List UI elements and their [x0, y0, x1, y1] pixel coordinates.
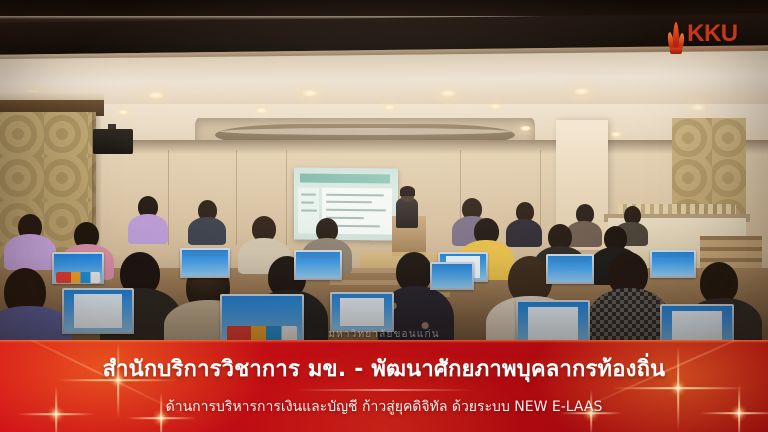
downlight-icon: [610, 132, 621, 137]
banner-title: สำนักบริการวิชาการ มข. - พัฒนาศักยภาพบุค…: [103, 356, 666, 384]
downlight-icon: [690, 104, 706, 111]
projection-screen: [294, 167, 398, 240]
wall-monitor: [93, 129, 133, 154]
ceiling-recess-lip: [220, 128, 510, 135]
laptop: [220, 294, 304, 346]
laptop-screen-bar: [299, 255, 337, 258]
attendee-body: [506, 219, 542, 247]
laptop-screen-bar: [551, 259, 589, 262]
laptop: [430, 262, 474, 290]
downlight-icon: [520, 126, 531, 131]
laptop: [180, 248, 230, 278]
downlight-icon: [490, 104, 501, 109]
laptop-screen-bar: [185, 253, 225, 256]
laptop: [546, 254, 594, 284]
laptop-sticker: [56, 272, 100, 283]
laptop-screen-bar: [655, 254, 692, 257]
banner-divider: [295, 389, 473, 391]
laptop-document: [74, 294, 123, 327]
attendee-body: [188, 217, 226, 245]
laptop: [650, 250, 696, 278]
downlight-icon: [574, 88, 590, 95]
presenter-body: [396, 198, 418, 228]
laptop-screen: [432, 264, 472, 288]
laptop: [52, 252, 104, 284]
wall-panel-line: [236, 150, 237, 245]
laptop-document: [340, 298, 384, 327]
wall-panel-line: [168, 150, 169, 245]
downlight-icon: [256, 108, 267, 113]
slide-text-line: [301, 210, 317, 212]
title-banner: สำนักบริการวิชาการ มข. - พัฒนาศักยภาพบุค…: [0, 340, 768, 432]
slide-text-line: [301, 202, 314, 204]
downlight-icon: [118, 110, 129, 115]
banner-subtitle: ด้านการบริหารการเงินและบัญชี ก้าวสู่ยุคด…: [166, 397, 603, 417]
ceiling-top-strip: [0, 0, 768, 16]
event-photo: มหาวิทยาลัยขอนแก่น: [0, 0, 768, 352]
kku-wordmark-group: KKU KHON KAEN UNIVERSITY: [687, 22, 754, 54]
downlight-icon: [148, 92, 164, 99]
laptop: [330, 292, 394, 332]
attendee-body: [128, 214, 168, 244]
presenter-hair: [400, 186, 415, 196]
downlight-icon: [302, 90, 318, 97]
kku-tagline: KHON KAEN UNIVERSITY: [687, 47, 754, 54]
attendee-body: [4, 234, 56, 270]
laptop: [294, 250, 342, 280]
downlight-icon: [384, 105, 395, 110]
slide-text-line: [301, 194, 316, 196]
event-banner-image: มหาวิทยาลัยขอนแก่น KKU KHON KAEN UNIVERS…: [0, 0, 768, 432]
kku-wordmark: KKU: [687, 22, 754, 46]
wall-panel-line: [286, 150, 287, 245]
downlight-icon: [440, 90, 456, 97]
banner-text-block: สำนักบริการวิชาการ มข. - พัฒนาศักยภาพบุค…: [0, 340, 768, 432]
slide-header: [300, 174, 390, 184]
flame-torch-icon: [668, 22, 684, 56]
kku-logo: KKU KHON KAEN UNIVERSITY: [668, 22, 754, 56]
laptop: [62, 288, 134, 334]
laptop-document: [528, 307, 578, 342]
